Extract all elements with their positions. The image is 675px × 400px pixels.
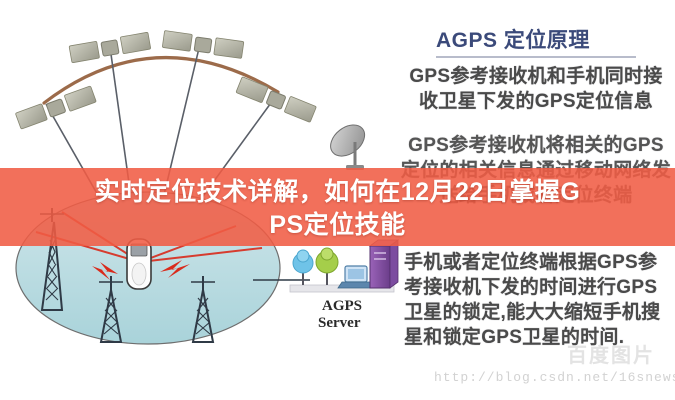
mobile-phone-icon (127, 239, 151, 289)
agps-server-label-line1: AGPS (322, 298, 362, 314)
headline-banner: 实时定位技术详解，如何在12月22日掌握G PS定位技能 (0, 172, 675, 244)
satellite-dish-icon (325, 119, 371, 170)
explanation-paragraph-3: 手机或者定位终端根据GPS参考接收机下发的时间进行GPS卫星的锁定,能大大缩短手… (404, 250, 672, 350)
baidu-watermark-logo: 百度图片 (546, 338, 675, 374)
agps-server-label-line2: Server (318, 315, 361, 331)
headline-line-1: 实时定位技术详解，如何在12月22日掌握G (95, 176, 581, 208)
diagram-title: AGPS 定位原理 (436, 24, 636, 58)
satellite-4-icon (236, 77, 317, 123)
explanation-paragraph-1: GPS参考接收机和手机同时接收卫星下发的GPS定位信息 (400, 64, 672, 114)
source-url-watermark: http://blog.csdn.net/16snews (434, 370, 675, 385)
headline-line-2: PS定位技能 (269, 209, 405, 241)
agps-server-icon (290, 240, 398, 292)
satellite-3-icon (162, 31, 244, 59)
screenshot-canvas: AGPS Server AGPS 定位原理 GPS参考接收机和手机同时接收卫星下… (0, 0, 675, 400)
